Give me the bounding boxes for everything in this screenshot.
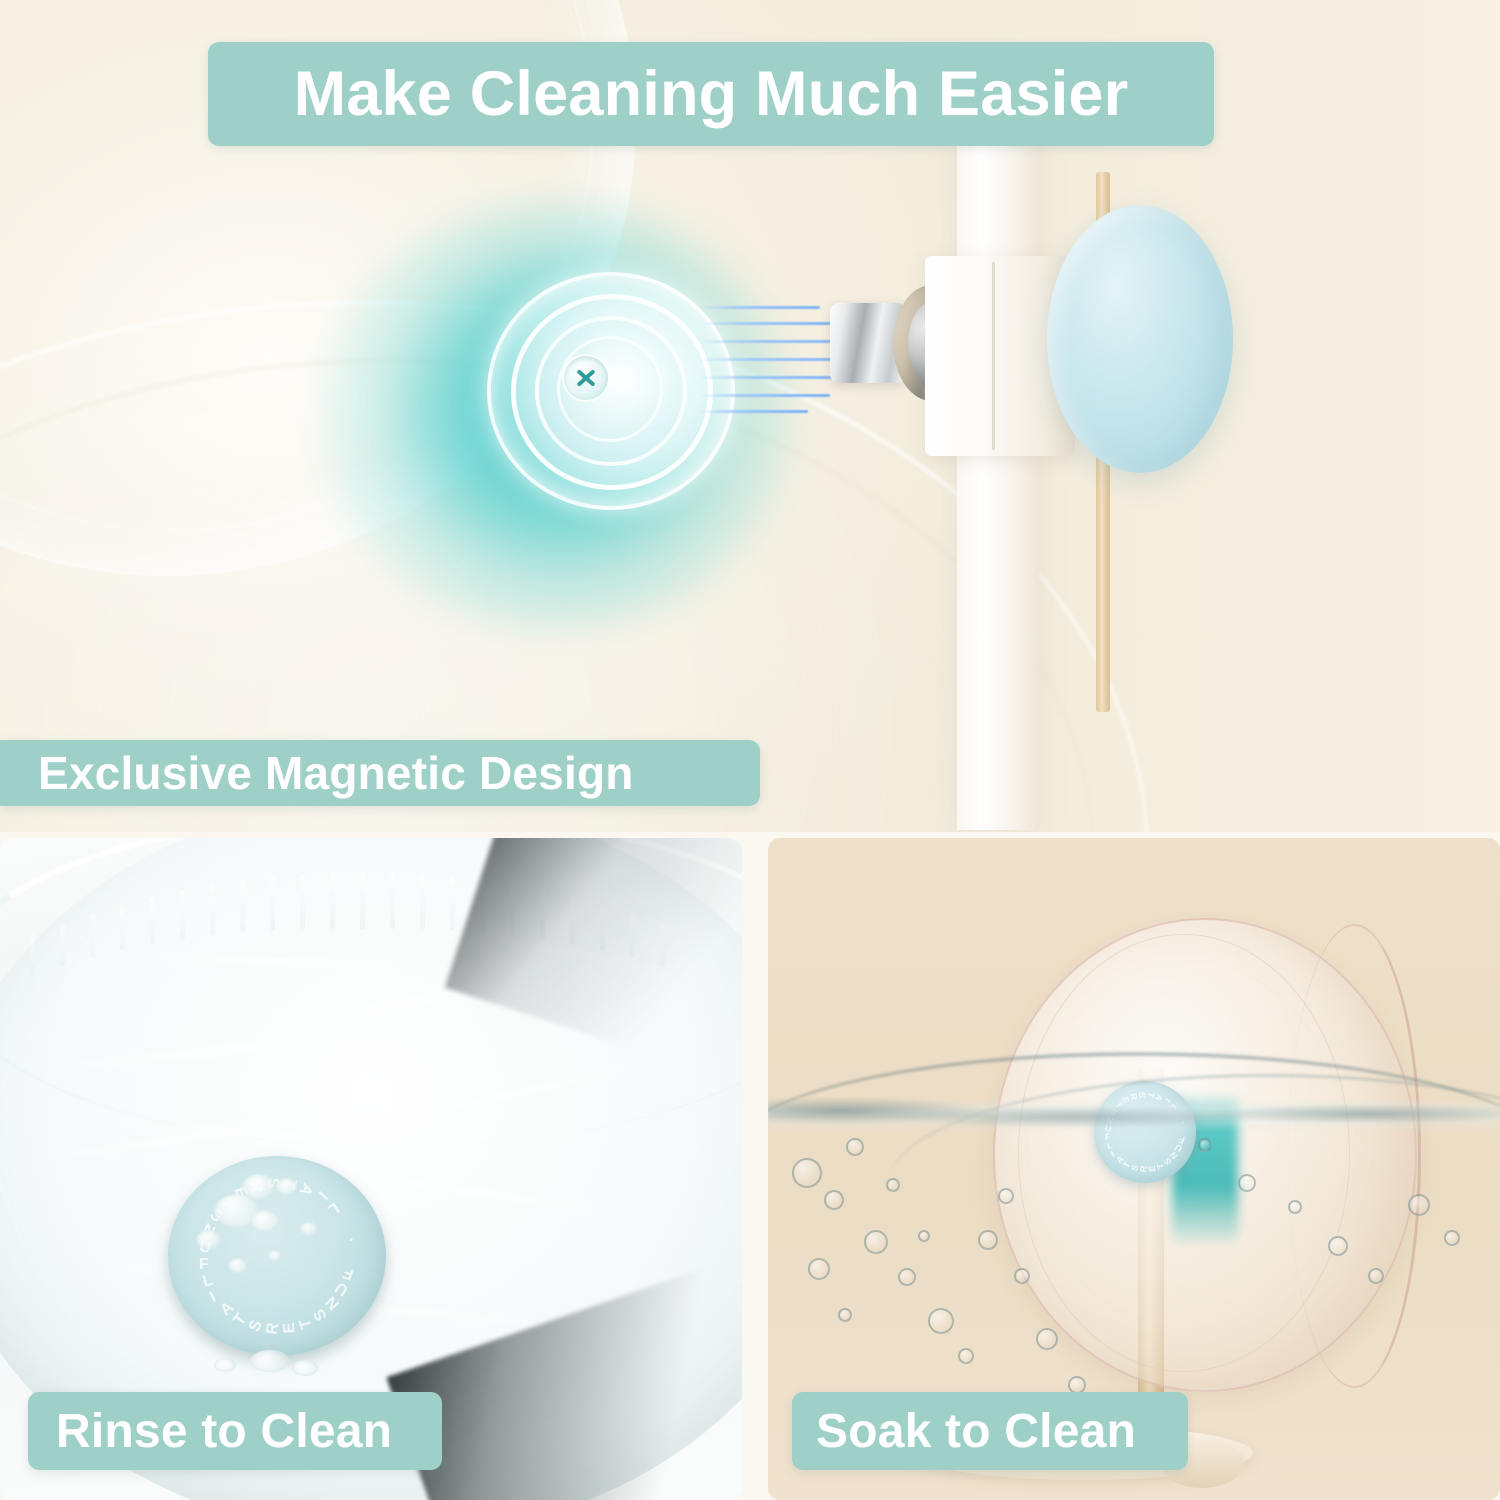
motion-line <box>700 410 808 413</box>
splash-droplet <box>214 1358 236 1372</box>
center-screw-icon <box>562 354 610 402</box>
bubble <box>1328 1236 1348 1256</box>
bubble <box>1288 1200 1302 1214</box>
bubble <box>1444 1230 1460 1246</box>
bowl-flute <box>300 874 305 929</box>
bowl-flute <box>30 934 35 976</box>
blue-magnet-disc <box>1047 205 1233 473</box>
bubble <box>1408 1194 1430 1216</box>
housing-seam <box>992 262 995 450</box>
splash-droplet <box>196 1230 222 1250</box>
splash-droplet <box>242 1174 276 1200</box>
splash-droplet <box>292 1360 318 1376</box>
bubble <box>792 1158 822 1188</box>
motion-line <box>700 322 842 325</box>
bowl-flute <box>150 897 155 945</box>
splash-droplet <box>300 1222 318 1236</box>
magnetic-suction-base <box>487 272 727 502</box>
bubble <box>918 1230 930 1242</box>
soak-water-surface <box>768 1078 1500 1156</box>
disc-brand-letter: I <box>207 1288 221 1307</box>
bubble <box>1036 1328 1058 1350</box>
product-feature-image: FUNSTERSTAIL · FUNSTERSTAIL FUNSTERSTAIL… <box>0 0 1500 1500</box>
bubble <box>958 1348 974 1364</box>
bowl-flute <box>450 877 455 931</box>
motion-line <box>700 376 850 379</box>
bubble <box>846 1138 864 1156</box>
white-fountain-housing <box>957 130 1039 830</box>
bowl-flute <box>270 877 275 931</box>
bubble <box>1368 1268 1384 1284</box>
bowl-flute <box>60 923 65 966</box>
bowl-flute <box>90 914 95 959</box>
bubble <box>998 1188 1014 1204</box>
bowl-flute <box>420 874 425 929</box>
rinse-label-banner: Rinse to Clean <box>28 1392 442 1470</box>
bubble <box>898 1268 916 1286</box>
splash-droplet <box>276 1178 298 1196</box>
bubble <box>808 1258 830 1280</box>
disc-brand-letter: · <box>345 1229 354 1248</box>
bowl-flute <box>180 890 185 939</box>
bowl-flute <box>330 873 335 930</box>
bowl-flute <box>390 873 395 930</box>
bubble <box>1198 1138 1212 1152</box>
motion-line <box>700 306 820 309</box>
disc-brand-letter: L <box>322 1198 342 1220</box>
disc-brand-letter: L <box>201 1271 217 1291</box>
bowl-flute <box>360 872 365 930</box>
bowl-flute <box>240 880 245 932</box>
subtitle-banner: Exclusive Magnetic Design <box>0 740 760 806</box>
motion-line <box>700 394 830 397</box>
splash-droplet <box>250 1210 280 1232</box>
splash-droplet <box>228 1258 248 1274</box>
bubble <box>838 1308 852 1322</box>
bubble <box>978 1230 998 1250</box>
splash-droplet <box>268 1250 282 1262</box>
bubble <box>824 1190 844 1210</box>
bubble <box>1238 1174 1256 1192</box>
bowl-flute <box>120 905 125 951</box>
bubble <box>928 1308 954 1334</box>
page-title-banner: Make Cleaning Much Easier <box>208 42 1214 146</box>
splash-droplet <box>250 1350 290 1372</box>
bubble <box>1014 1268 1030 1284</box>
bubble <box>886 1178 900 1192</box>
soak-label-banner: Soak to Clean <box>792 1392 1188 1470</box>
bowl-flute <box>210 885 215 936</box>
bubble <box>864 1230 888 1254</box>
